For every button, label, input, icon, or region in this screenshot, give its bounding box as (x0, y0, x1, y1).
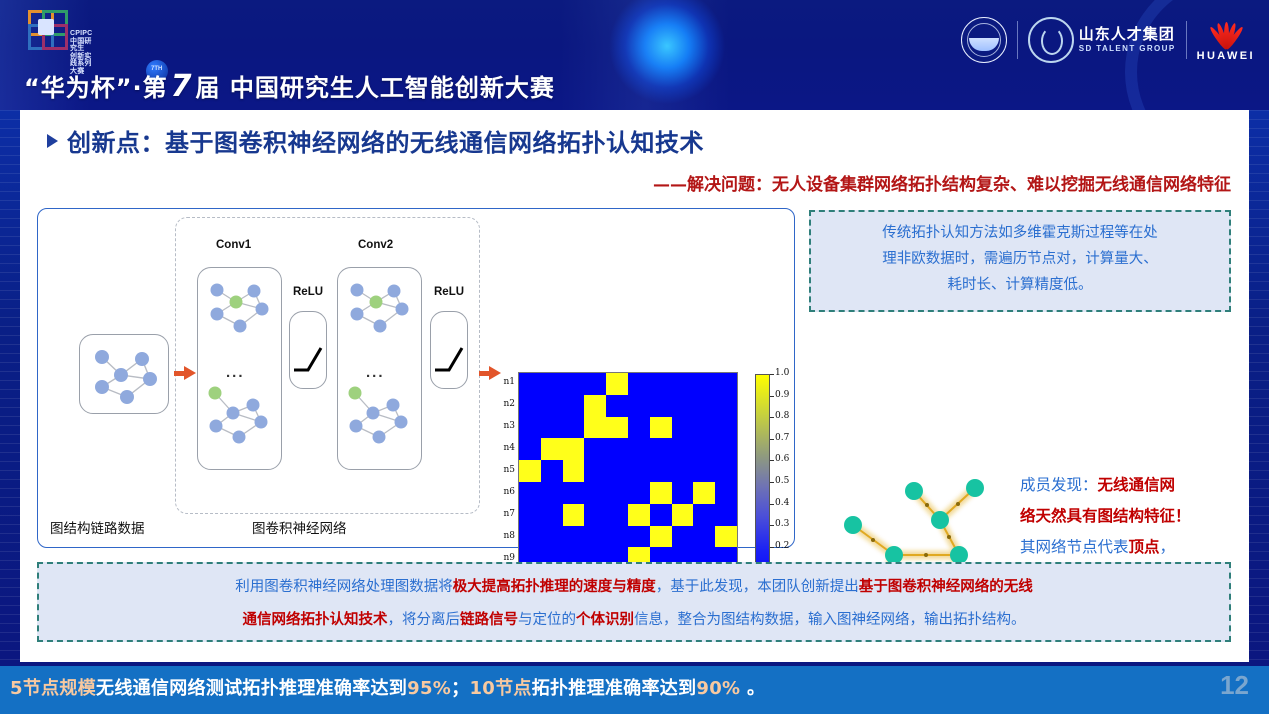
heatmap-cell (541, 438, 563, 460)
footer-seg-8: 。 (740, 678, 765, 699)
heatmap-cell (606, 460, 628, 482)
finding-l2-bold: 络天然具有图结构特征！ (1020, 507, 1191, 525)
heatmap-cell (715, 373, 737, 395)
heatmap-y-tick: n1 (489, 377, 515, 387)
heatmap-cell (715, 482, 737, 504)
relu2-curve-icon (431, 312, 467, 388)
heatmap-y-tick: n2 (489, 399, 515, 409)
heatmap-cell (519, 417, 541, 439)
heatmap-cell (584, 373, 606, 395)
heatmap-cell (541, 482, 563, 504)
relu2-box (430, 311, 468, 389)
heatmap-cell (650, 460, 672, 482)
heatmap-cell (693, 438, 715, 460)
heatmap-cell (584, 504, 606, 526)
traditional-method-line3: 耗时长、计算精度低。 (811, 272, 1229, 298)
heatmap-cell (715, 526, 737, 548)
competition-title-number: 7 (168, 69, 196, 104)
heatmap-y-tick: n5 (489, 465, 515, 475)
heatmap-cell (693, 460, 715, 482)
heatmap-cell (541, 504, 563, 526)
heatmap-cell (541, 417, 563, 439)
left-blue-strip (0, 110, 20, 662)
heatmap-cell (628, 526, 650, 548)
heatmap-cell (541, 395, 563, 417)
sponsor-logos: 山东人才集团 SD TALENT GROUP HUAWEI (961, 14, 1255, 66)
heatmap-cell (519, 482, 541, 504)
colorbar-tick-mark (770, 374, 774, 375)
caption-left: 图结构链路数据 (50, 517, 145, 537)
colorbar-tick: 0.2 (775, 541, 789, 551)
heatmap-y-tick: n3 (489, 421, 515, 431)
heatmap-cell (541, 460, 563, 482)
heatmap-cell (584, 438, 606, 460)
arrow-1-icon (184, 366, 196, 380)
conv2-graph-top (338, 274, 421, 364)
heatmap-cell (584, 395, 606, 417)
footer-seg-3: 95% (407, 678, 451, 699)
heatmap-cell (606, 373, 628, 395)
heatmap-cell (628, 460, 650, 482)
heatmap-cell (672, 526, 694, 548)
relu1-box (289, 311, 327, 389)
heatmap-cell (628, 438, 650, 460)
heatmap-cell (519, 438, 541, 460)
colorbar-tick-mark (770, 482, 774, 483)
caption-mid: 图卷积神经网络 (252, 517, 347, 537)
page-number: 12 (1220, 670, 1249, 701)
footer-seg-7: 90% (696, 678, 740, 699)
conclusion-l1-c: ，基于此发现，本团队创新提出 (656, 579, 859, 595)
heatmap-cell (650, 526, 672, 548)
colorbar-tick-mark (770, 417, 774, 418)
conclusion-l2-c: 链路信号 (460, 612, 518, 628)
ocean-university-logo-icon (961, 17, 1007, 63)
heatmap-cell (541, 526, 563, 548)
heatmap-cell (606, 417, 628, 439)
finding-l3-plain: 其网络节点代表 (1020, 538, 1129, 556)
colorbar-tick: 1.0 (775, 368, 789, 378)
logo-divider-1 (1017, 21, 1018, 59)
competition-title-prefix: “华为杯”·第 (24, 74, 168, 102)
colorbar-tick-mark (770, 547, 774, 548)
conv2-graph-bottom (338, 380, 421, 470)
conclusion-l2-a: 通信网络拓扑认知技术 (243, 612, 388, 628)
conclusion-l2-d: 与定位的 (518, 612, 576, 628)
finding-l1-plain: 成员发现： (1020, 476, 1098, 494)
slide-title-row: 创新点：基于图卷积神经网络的无线通信网络拓扑认知技术 (47, 123, 704, 158)
arrow-bullet-icon (47, 134, 58, 148)
traditional-method-line1: 传统拓扑认知方法如多维霍克斯过程等在处 (811, 220, 1229, 246)
footer-seg-4: ； (451, 678, 469, 699)
heatmap-cell (563, 373, 585, 395)
heatmap-cell (693, 395, 715, 417)
page-subtitle: ——解决问题：无人设备集群网络拓扑结构复杂、难以挖掘无线通信网络特征 (653, 170, 1231, 195)
heatmap-cell (563, 526, 585, 548)
heatmap-colorbar (755, 374, 770, 590)
heatmap-cell (715, 438, 737, 460)
heatmap-cell (519, 395, 541, 417)
slide-header: CPIPC 中国研究生 创新实践系列大赛 7TH “华为杯”·第7届 中国研究生… (0, 0, 1269, 110)
heatmap-cell (672, 504, 694, 526)
input-graph-box (79, 334, 169, 414)
heatmap-cell (693, 482, 715, 504)
heatmap-y-tick: n4 (489, 443, 515, 453)
finding-l3-tail: ， (1160, 538, 1176, 556)
finding-line-1: 成员发现：无线通信网 (1020, 470, 1258, 501)
heatmap-cell (672, 460, 694, 482)
heatmap-cell (693, 504, 715, 526)
footer-seg-5: 10节点 (469, 678, 531, 699)
finding-l1-bold: 无线通信网 (1098, 476, 1176, 494)
relu1-curve-icon (290, 312, 326, 388)
slide-footer: 5节点规模无线通信网络测试拓扑推理准确率达到95%；10节点拓扑推理准确率达到9… (0, 662, 1269, 714)
heatmap-y-tick: n8 (489, 531, 515, 541)
conv1-box: ... (197, 267, 282, 470)
colorbar-tick-mark (770, 525, 774, 526)
heatmap-cell (606, 482, 628, 504)
colorbar-tick: 0.9 (775, 390, 789, 400)
conclusion-l1-b: 极大提高拓扑推理的速度与精度 (453, 579, 656, 595)
heatmap-y-tick: n6 (489, 487, 515, 497)
cpipc-acronym: CPIPC (70, 30, 92, 37)
conclusion-l2-e: 个体识别 (576, 612, 634, 628)
heatmap-cell (715, 504, 737, 526)
arrow-1-tail (174, 371, 184, 376)
traditional-method-box: 传统拓扑认知方法如多维霍克斯过程等在处 理非欧数据时，需遍历节点对，计算量大、 … (809, 210, 1231, 312)
heatmap-cell (563, 504, 585, 526)
slide-body: 创新点：基于图卷积神经网络的无线通信网络拓扑认知技术 ——解决问题：无人设备集群… (0, 110, 1269, 662)
cpipc-logo: CPIPC 中国研究生 创新实践系列大赛 (26, 8, 98, 68)
conclusion-l1-a: 利用图卷积神经网络处理图数据将 (235, 579, 453, 595)
heatmap-cell (584, 482, 606, 504)
heatmap-cell (693, 373, 715, 395)
heatmap-cell (606, 438, 628, 460)
heatmap-cell (672, 373, 694, 395)
input-graph-svg (80, 335, 168, 413)
heatmap-cell (628, 504, 650, 526)
footer-top-rule (0, 662, 1269, 666)
conv1-label: Conv1 (216, 239, 251, 251)
footer-seg-1: 5节点规模 (10, 678, 96, 699)
slide-root: CPIPC 中国研究生 创新实践系列大赛 7TH “华为杯”·第7届 中国研究生… (0, 0, 1269, 714)
huawei-flower-icon (1199, 19, 1253, 49)
conv1-graph-top (198, 274, 281, 364)
colorbar-tick: 0.8 (775, 411, 789, 421)
sd-talent-mark-icon (1028, 17, 1074, 63)
cpipc-sub1: 中国研究生 (70, 38, 92, 53)
heatmap-cell (628, 417, 650, 439)
finding-line-2: 络天然具有图结构特征！ (1020, 501, 1258, 532)
heatmap-cell (563, 482, 585, 504)
heatmap-cell (672, 482, 694, 504)
heatmap-cell (693, 417, 715, 439)
heatmap-cell (650, 482, 672, 504)
heatmap-y-tick: n7 (489, 509, 515, 519)
heatmap-cell (650, 373, 672, 395)
conclusion-box: 利用图卷积神经网络处理图数据将极大提高拓扑推理的速度与精度，基于此发现，本团队创… (37, 562, 1231, 642)
heatmap-cell (715, 417, 737, 439)
colorbar-tick-mark (770, 504, 774, 505)
conclusion-l2-b: ，将分离后 (388, 612, 461, 628)
header-sheen (560, 0, 730, 110)
heatmap-cell (672, 438, 694, 460)
sd-logo-cn-text: 山东人才集团 (1079, 27, 1176, 42)
heatmap-cell (672, 395, 694, 417)
conv1-ellipsis: ... (226, 364, 245, 381)
heatmap-cell (541, 373, 563, 395)
conv1-graph-bottom (198, 380, 281, 470)
colorbar-tick: 0.6 (775, 454, 789, 464)
heatmap-cell (519, 504, 541, 526)
heatmap-cell (628, 373, 650, 395)
sd-talent-group-logo: 山东人才集团 SD TALENT GROUP (1028, 17, 1176, 63)
heatmap-cell (584, 526, 606, 548)
colorbar-tick: 0.3 (775, 519, 789, 529)
topology-heatmap (518, 372, 738, 592)
conv2-ellipsis: ... (366, 364, 385, 381)
heatmap-cell (563, 395, 585, 417)
conclusion-line-2: 通信网络拓扑认知技术，将分离后链路信号与定位的个体识别信息，整合为图结构数据，输… (49, 604, 1219, 637)
conclusion-l2-f: 信息，整合为图结构数据，输入图神经网络，输出拓扑结构。 (634, 612, 1026, 628)
heatmap-cell (584, 460, 606, 482)
footer-seg-6: 拓扑推理准确率达到 (532, 678, 697, 699)
heatmap-cell (563, 438, 585, 460)
heatmap-cell (672, 417, 694, 439)
relu2-label: ReLU (434, 286, 464, 298)
traditional-method-line2: 理非欧数据时，需遍历节点对，计算量大、 (811, 246, 1229, 272)
heatmap-cell (650, 395, 672, 417)
conv2-label: Conv2 (358, 239, 393, 251)
heatmap-cell (650, 417, 672, 439)
heatmap-cell (519, 373, 541, 395)
page-title: 创新点：基于图卷积神经网络的无线通信网络拓扑认知技术 (67, 123, 704, 158)
conclusion-l1-d: 基于图卷积神经网络的无线 (859, 579, 1033, 595)
colorbar-tick-mark (770, 439, 774, 440)
competition-title: “华为杯”·第7届 中国研究生人工智能创新大赛 (24, 68, 555, 104)
colorbar-tick-mark (770, 396, 774, 397)
heatmap-cell (519, 526, 541, 548)
heatmap-cell (650, 438, 672, 460)
heatmap-cell (519, 460, 541, 482)
heatmap-cell (715, 395, 737, 417)
heatmap-cell (693, 526, 715, 548)
heatmap-cell (563, 460, 585, 482)
colorbar-tick: 0.5 (775, 476, 789, 486)
arrow-2-tail (479, 371, 489, 376)
heatmap-cell (606, 395, 628, 417)
footer-summary: 5节点规模无线通信网络测试拓扑推理准确率达到95%；10节点拓扑推理准确率达到9… (10, 674, 765, 700)
heatmap-cell (606, 526, 628, 548)
slide-content: 创新点：基于图卷积神经网络的无线通信网络拓扑认知技术 ——解决问题：无人设备集群… (20, 110, 1249, 662)
competition-title-suffix: 届 中国研究生人工智能创新大赛 (196, 74, 555, 102)
colorbar-tick-mark (770, 460, 774, 461)
colorbar-tick: 0.7 (775, 433, 789, 443)
heatmap-cell (584, 417, 606, 439)
heatmap-cell (650, 504, 672, 526)
huawei-logo-text: HUAWEI (1197, 50, 1255, 62)
heatmap-cell (606, 504, 628, 526)
relu1-label: ReLU (293, 286, 323, 298)
finding-l3-bold: 顶点 (1129, 538, 1160, 556)
conv2-box: ... (337, 267, 422, 470)
huawei-logo: HUAWEI (1197, 19, 1255, 62)
colorbar-tick: 0.4 (775, 498, 789, 508)
heatmap-cell (628, 395, 650, 417)
heatmap-cell (563, 417, 585, 439)
logo-divider-2 (1186, 21, 1187, 59)
sd-logo-en-text: SD TALENT GROUP (1079, 45, 1176, 53)
finding-line-3: 其网络节点代表顶点， (1020, 532, 1258, 563)
footer-seg-2: 无线通信网络测试拓扑推理准确率达到 (96, 678, 407, 699)
heatmap-cell (715, 460, 737, 482)
heatmap-cell (628, 482, 650, 504)
conclusion-line-1: 利用图卷积神经网络处理图数据将极大提高拓扑推理的速度与精度，基于此发现，本团队创… (49, 571, 1219, 604)
